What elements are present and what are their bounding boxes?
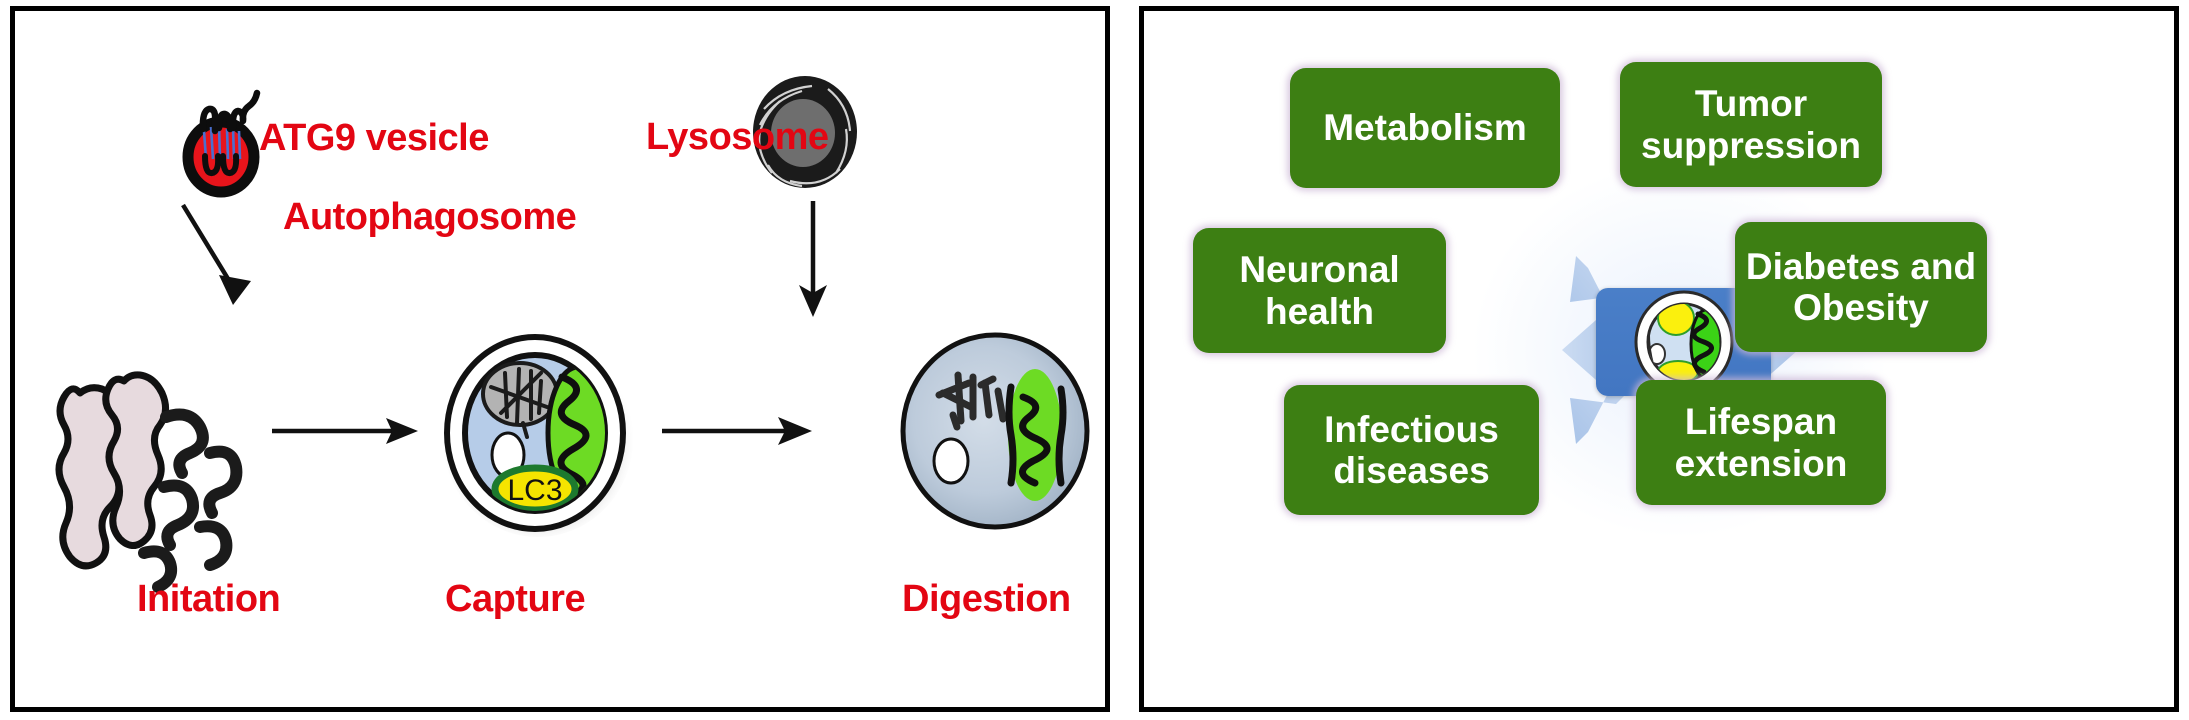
- panel-autophagy-pathway: ATG9 vesicle Lysosome Autophago: [10, 6, 1110, 712]
- arrow-lysosome-to-autolysosome: [783, 201, 843, 326]
- autophagosome-hub-icon: [1630, 290, 1738, 394]
- figure-root: ATG9 vesicle Lysosome Autophago: [0, 0, 2189, 720]
- infectious-line2: diseases: [1333, 450, 1489, 491]
- tumor-line1: Tumor: [1695, 83, 1807, 124]
- arrow-autophagosome-to-autolysosome: [660, 411, 830, 451]
- label-capture: Capture: [445, 578, 585, 621]
- function-box-neuronal-health-label: Neuronal health: [1239, 249, 1399, 332]
- arrow-atg9-to-phagophore: [175, 201, 295, 321]
- function-box-infectious-diseases[interactable]: Infectious diseases: [1284, 385, 1539, 515]
- neuronal-line2: health: [1265, 291, 1374, 332]
- function-box-neuronal-health[interactable]: Neuronal health: [1193, 228, 1446, 353]
- function-box-tumor-suppression[interactable]: Tumor suppression: [1620, 62, 1882, 187]
- label-digestion: Digestion: [902, 578, 1071, 621]
- autolysosome-icon: [895, 331, 1095, 536]
- label-atg9-vesicle: ATG9 vesicle: [259, 117, 489, 160]
- function-box-lifespan-extension[interactable]: Lifespan extension: [1636, 380, 1886, 505]
- lc3-label: LC3: [507, 474, 562, 507]
- diabetes-line1: Diabetes and: [1746, 246, 1976, 287]
- function-box-diabetes-obesity-label: Diabetes and Obesity: [1746, 246, 1976, 329]
- neuronal-line1: Neuronal: [1239, 249, 1399, 290]
- label-lysosome: Lysosome: [646, 116, 829, 159]
- function-box-lifespan-extension-label: Lifespan extension: [1675, 401, 1848, 484]
- arrow-phagophore-to-autophagosome: [270, 411, 430, 451]
- function-box-metabolism-label: Metabolism: [1323, 107, 1527, 148]
- label-autophagosome: Autophagosome: [283, 196, 576, 239]
- diabetes-line2: Obesity: [1793, 287, 1929, 328]
- function-box-diabetes-obesity[interactable]: Diabetes and Obesity: [1735, 222, 1987, 352]
- function-box-tumor-suppression-label: Tumor suppression: [1641, 83, 1861, 166]
- tumor-line2: suppression: [1641, 125, 1861, 166]
- phagophore-icon: [40, 341, 270, 601]
- label-initiation: Initation: [137, 578, 280, 621]
- autophagosome-icon: LC3: [435, 329, 635, 539]
- infectious-line1: Infectious: [1324, 409, 1499, 450]
- lifespan-line2: extension: [1675, 443, 1848, 484]
- function-box-metabolism[interactable]: Metabolism: [1290, 68, 1560, 188]
- function-box-infectious-diseases-label: Infectious diseases: [1324, 409, 1499, 492]
- lifespan-line1: Lifespan: [1685, 401, 1837, 442]
